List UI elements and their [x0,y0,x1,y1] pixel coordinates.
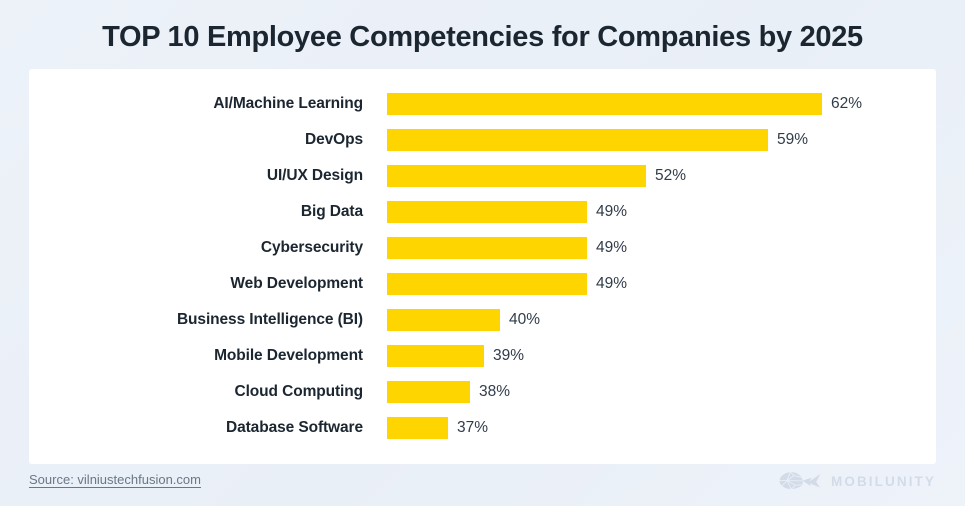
bar-row: UI/UX Design 52% [29,158,936,194]
chart-card: AI/Machine Learning 62% DevOps 59% UI/UX… [29,69,936,464]
bar-value-label: 39% [493,346,524,366]
bar-track: 39% [387,345,936,367]
footer: Source: vilniustechfusion.com MOBILUNITY [29,470,936,498]
bar-fill [387,345,484,367]
brand-logo: MOBILUNITY [778,470,936,492]
bar-track: 59% [387,129,936,151]
bar-row: DevOps 59% [29,122,936,158]
bar-fill [387,201,587,223]
bar-value-label: 49% [596,202,627,222]
bar-row: Cybersecurity 49% [29,230,936,266]
bar-row: AI/Machine Learning 62% [29,86,936,122]
page-title: TOP 10 Employee Competencies for Compani… [0,16,965,58]
bar-row: Cloud Computing 38% [29,374,936,410]
bar-fill [387,417,448,439]
bar-row: Database Software 37% [29,410,936,446]
bar-row: Big Data 49% [29,194,936,230]
bar-fill [387,129,768,151]
bar-fill [387,381,470,403]
category-label: Web Development [29,274,387,294]
bar-value-label: 62% [831,94,862,114]
category-label: Cybersecurity [29,238,387,258]
bar-value-label: 49% [596,274,627,294]
bar-value-label: 59% [777,130,808,150]
bar-track: 49% [387,201,936,223]
category-label: Database Software [29,418,387,438]
category-label: AI/Machine Learning [29,94,387,114]
bar-track: 49% [387,237,936,259]
bar-value-label: 38% [479,382,510,402]
bar-row: Web Development 49% [29,266,936,302]
bar-track: 62% [387,93,936,115]
bar-value-label: 37% [457,418,488,438]
category-label: Business Intelligence (BI) [29,310,387,330]
bar-track: 40% [387,309,936,331]
bar-value-label: 40% [509,310,540,330]
category-label: Cloud Computing [29,382,387,402]
bar-fill [387,237,587,259]
bar-fill [387,93,822,115]
bar-value-label: 49% [596,238,627,258]
bar-row: Business Intelligence (BI) 40% [29,302,936,338]
category-label: Big Data [29,202,387,222]
bar-track: 37% [387,417,936,439]
bar-fill [387,309,500,331]
bar-track: 52% [387,165,936,187]
category-label: UI/UX Design [29,166,387,186]
bar-row: Mobile Development 39% [29,338,936,374]
whale-icon [778,470,822,492]
bar-chart-plot-area: AI/Machine Learning 62% DevOps 59% UI/UX… [29,86,936,446]
bar-fill [387,273,587,295]
bar-fill [387,165,646,187]
bar-value-label: 52% [655,166,686,186]
source-link[interactable]: Source: vilniustechfusion.com [29,472,201,487]
bar-track: 49% [387,273,936,295]
brand-name: MOBILUNITY [831,474,936,489]
bar-track: 38% [387,381,936,403]
category-label: Mobile Development [29,346,387,366]
category-label: DevOps [29,130,387,150]
